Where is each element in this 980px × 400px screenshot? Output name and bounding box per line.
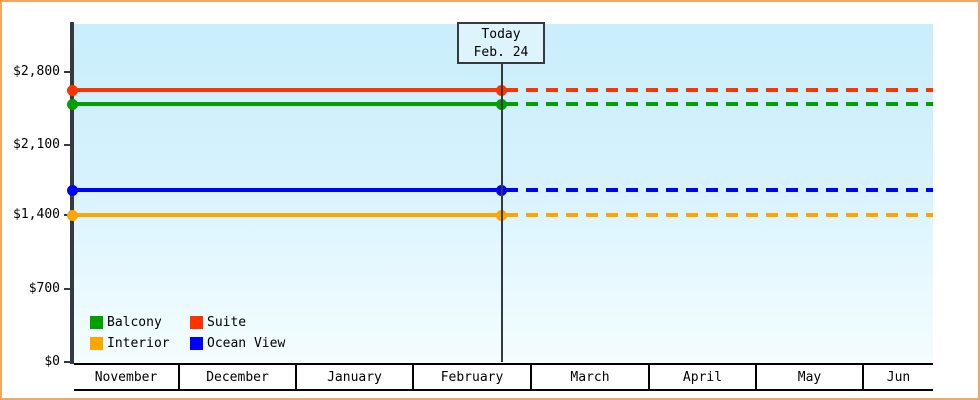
- month-axis: November December January February March…: [74, 363, 933, 391]
- month-cell-may: May: [757, 365, 864, 389]
- month-cell-november: November: [74, 365, 180, 389]
- series-line-ocean-view-forecast: [506, 188, 933, 192]
- legend-label-balcony: Balcony: [107, 316, 162, 329]
- series-line-balcony-forecast: [506, 102, 933, 106]
- chart-legend: Balcony Suite Interior Ocean View: [90, 312, 285, 354]
- legend-label-suite: Suite: [207, 316, 246, 329]
- y-axis-label-700: $700: [29, 282, 60, 295]
- y-axis-label-2800: $2,800: [13, 65, 60, 78]
- legend-swatch-suite: [190, 316, 203, 329]
- series-line-interior-historical: [74, 213, 502, 217]
- series-marker-suite-start: [67, 85, 78, 96]
- month-cell-march: March: [532, 365, 650, 389]
- series-line-balcony-historical: [74, 102, 502, 106]
- series-line-suite-historical: [74, 88, 502, 92]
- price-trend-chart: $2,800 $2,100 $1,400 $700 $0 Today Feb. …: [0, 0, 980, 400]
- month-cell-jun: Jun: [864, 365, 933, 389]
- y-axis-label-1400: $1,400: [13, 208, 60, 221]
- series-line-interior-forecast: [506, 213, 933, 217]
- legend-label-interior: Interior: [107, 337, 170, 350]
- series-line-ocean-view-historical: [74, 188, 502, 192]
- month-cell-april: April: [650, 365, 757, 389]
- y-tick-0: [64, 361, 72, 363]
- month-cell-december: December: [180, 365, 297, 389]
- legend-item-interior[interactable]: Interior: [90, 337, 190, 350]
- y-axis-label-2100: $2,100: [13, 138, 60, 151]
- series-line-suite-forecast: [506, 88, 933, 92]
- today-callout-line1: Today: [459, 26, 543, 44]
- legend-item-ocean-view[interactable]: Ocean View: [190, 337, 285, 350]
- legend-item-suite[interactable]: Suite: [190, 316, 285, 329]
- legend-item-balcony[interactable]: Balcony: [90, 316, 190, 329]
- month-cell-february: February: [414, 365, 532, 389]
- series-marker-balcony-start: [67, 99, 78, 110]
- series-marker-interior-start: [67, 210, 78, 221]
- legend-label-ocean-view: Ocean View: [207, 337, 285, 350]
- legend-swatch-interior: [90, 337, 103, 350]
- today-vertical-line: [501, 24, 503, 362]
- series-marker-ocean-view-start: [67, 185, 78, 196]
- y-tick-700: [64, 288, 72, 290]
- legend-swatch-ocean-view: [190, 337, 203, 350]
- today-callout: Today Feb. 24: [457, 22, 545, 64]
- y-tick-2100: [64, 144, 72, 146]
- y-axis-label-0: $0: [44, 355, 60, 368]
- legend-swatch-balcony: [90, 316, 103, 329]
- month-cell-january: January: [297, 365, 414, 389]
- y-tick-2800: [64, 71, 72, 73]
- today-callout-line2: Feb. 24: [459, 44, 543, 62]
